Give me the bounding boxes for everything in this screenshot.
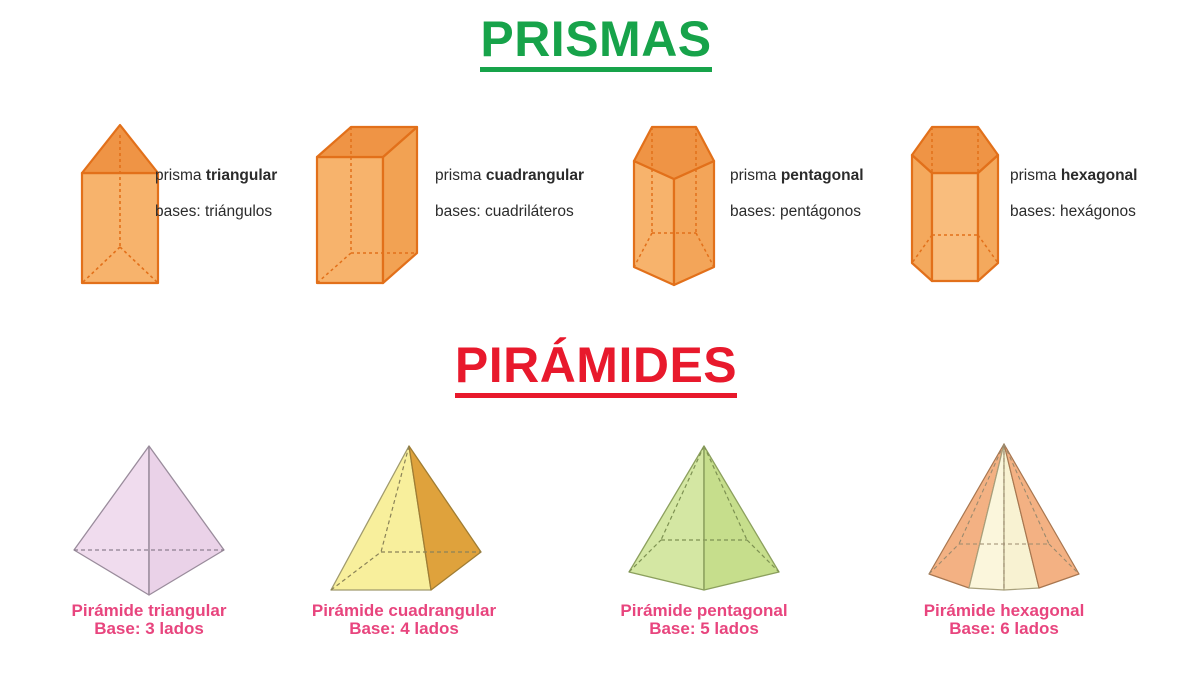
- prism-item-quadrangular: prisma cuadrangular bases: cuadriláteros: [305, 110, 615, 300]
- pyramid-caption-line2: Base: 5 lados: [555, 620, 853, 638]
- quadrangular-prism-figure: [305, 115, 435, 295]
- pyramid-caption-line2: Base: 6 lados: [855, 620, 1153, 638]
- prism-name-emphasis: cuadrangular: [486, 167, 584, 184]
- pyramid-caption-line1: Pirámide pentagonal: [620, 601, 787, 620]
- pyramid-item-pentagonal: Pirámide pentagonal Base: 5 lados: [555, 432, 853, 647]
- pyramid-caption-triangular: Pirámide triangular Base: 3 lados: [0, 602, 298, 639]
- triangular-pyramid-figure: [44, 432, 254, 602]
- pyramids-section-title: PIRÁMIDES: [0, 336, 1192, 398]
- prism-bases-pentagonal: bases: pentágonos: [730, 204, 864, 220]
- prism-name-emphasis: pentagonal: [781, 167, 864, 184]
- pyramid-item-hexagonal: Pirámide hexagonal Base: 6 lados: [855, 432, 1153, 647]
- pentagonal-prism-figure: [620, 115, 730, 295]
- prisms-title-text: PRISMAS: [480, 13, 711, 72]
- prism-name-prefix: prisma: [155, 167, 206, 184]
- prism-name-emphasis: hexagonal: [1061, 167, 1138, 184]
- prism-name-prefix: prisma: [730, 167, 781, 184]
- prism-name-hexagonal: prisma hexagonal: [1010, 168, 1138, 184]
- hexagonal-prism-figure: [900, 115, 1010, 295]
- pyramid-caption-line1: Pirámide triangular: [72, 601, 227, 620]
- prisms-section-title: PRISMAS: [0, 10, 1192, 72]
- prism-label-group-hexagonal: prisma hexagonal bases: hexágonos: [1010, 168, 1138, 219]
- pyramid-caption-line1: Pirámide cuadrangular: [312, 601, 496, 620]
- pyramid-caption-hexagonal: Pirámide hexagonal Base: 6 lados: [855, 602, 1153, 639]
- pyramid-caption-line2: Base: 3 lados: [0, 620, 298, 638]
- prism-item-hexagonal: prisma hexagonal bases: hexágonos: [900, 110, 1192, 300]
- prism-name-prefix: prisma: [435, 167, 486, 184]
- prism-name-emphasis: triangular: [206, 167, 277, 184]
- prism-name-pentagonal: prisma pentagonal: [730, 168, 864, 184]
- prism-name-quadrangular: prisma cuadrangular: [435, 168, 584, 184]
- hexagonal-pyramid-figure: [899, 432, 1109, 602]
- pyramid-caption-line2: Base: 4 lados: [255, 620, 553, 638]
- prism-label-group-quadrangular: prisma cuadrangular bases: cuadriláteros: [435, 168, 584, 219]
- pyramid-caption-line1: Pirámide hexagonal: [924, 601, 1085, 620]
- pyramids-title-text: PIRÁMIDES: [455, 339, 737, 398]
- prism-bases-triangular: bases: triángulos: [155, 204, 277, 220]
- prism-item-pentagonal: prisma pentagonal bases: pentágonos: [620, 110, 910, 300]
- prism-label-group-triangular: prisma triangular bases: triángulos: [155, 168, 277, 219]
- prisms-row: prisma triangular bases: triángulos pris…: [0, 110, 1192, 300]
- pentagonal-pyramid-figure: [599, 432, 809, 602]
- quadrangular-pyramid-figure: [299, 432, 509, 602]
- prism-bases-hexagonal: bases: hexágonos: [1010, 204, 1138, 220]
- prism-name-prefix: prisma: [1010, 167, 1061, 184]
- pyramids-row: Pirámide triangular Base: 3 lados Pirámi…: [0, 432, 1192, 647]
- pyramid-caption-quadrangular: Pirámide cuadrangular Base: 4 lados: [255, 602, 553, 639]
- pyramid-item-triangular: Pirámide triangular Base: 3 lados: [0, 432, 298, 647]
- prism-bases-quadrangular: bases: cuadriláteros: [435, 204, 584, 220]
- pyramid-item-quadrangular: Pirámide cuadrangular Base: 4 lados: [255, 432, 553, 647]
- prism-label-group-pentagonal: prisma pentagonal bases: pentágonos: [730, 168, 864, 219]
- pyramid-caption-pentagonal: Pirámide pentagonal Base: 5 lados: [555, 602, 853, 639]
- prism-name-triangular: prisma triangular: [155, 168, 277, 184]
